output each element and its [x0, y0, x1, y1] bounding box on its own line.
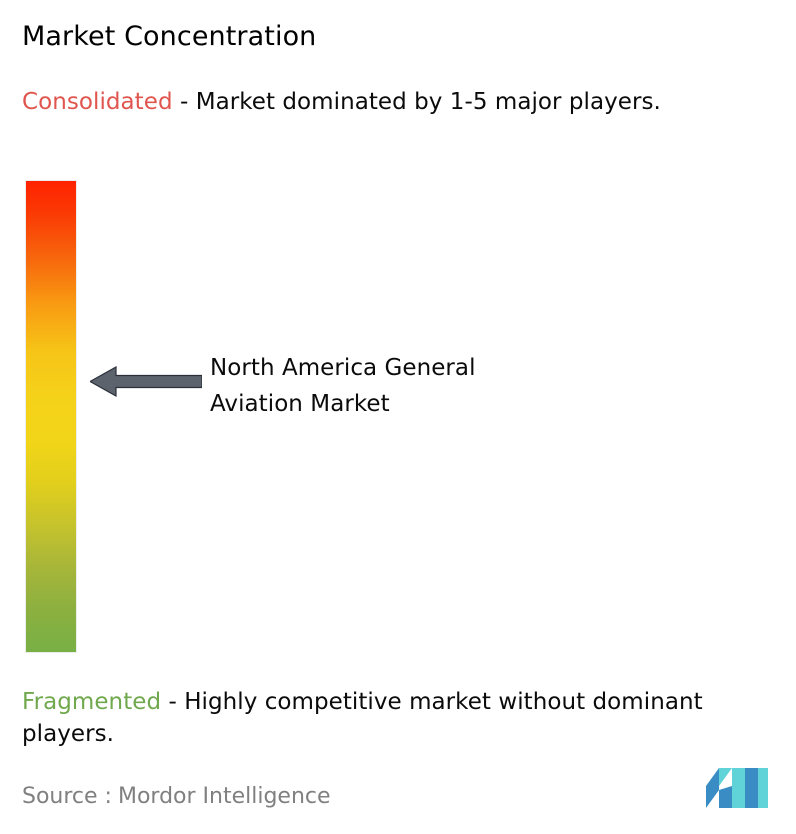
- left-arrow-icon: [90, 366, 202, 397]
- fragmented-caption: Fragmented - Highly competitive market w…: [22, 686, 788, 750]
- source-label: Source :: [22, 784, 112, 809]
- pointer-label-line2: Aviation Market: [210, 386, 630, 422]
- concentration-scale-bar: [26, 181, 76, 652]
- consolidated-key: Consolidated: [22, 89, 173, 115]
- page-title: Market Concentration: [22, 20, 316, 54]
- mordor-intelligence-logo: [706, 768, 768, 808]
- source-value: Mordor Intelligence: [118, 784, 331, 809]
- pointer-label-line1: North America General: [210, 350, 630, 386]
- consolidated-caption: Consolidated - Market dominated by 1-5 m…: [22, 86, 778, 118]
- source-attribution: Source :Mordor Intelligence: [22, 783, 331, 811]
- consolidated-description: Market dominated by 1-5 major players.: [196, 89, 661, 115]
- pointer-label: North America General Aviation Market: [210, 350, 630, 422]
- market-concentration-infographic: Market Concentration Consolidated - Mark…: [0, 0, 796, 834]
- fragmented-key: Fragmented: [22, 689, 161, 715]
- fragmented-separator: -: [161, 689, 184, 715]
- consolidated-separator: -: [173, 89, 196, 115]
